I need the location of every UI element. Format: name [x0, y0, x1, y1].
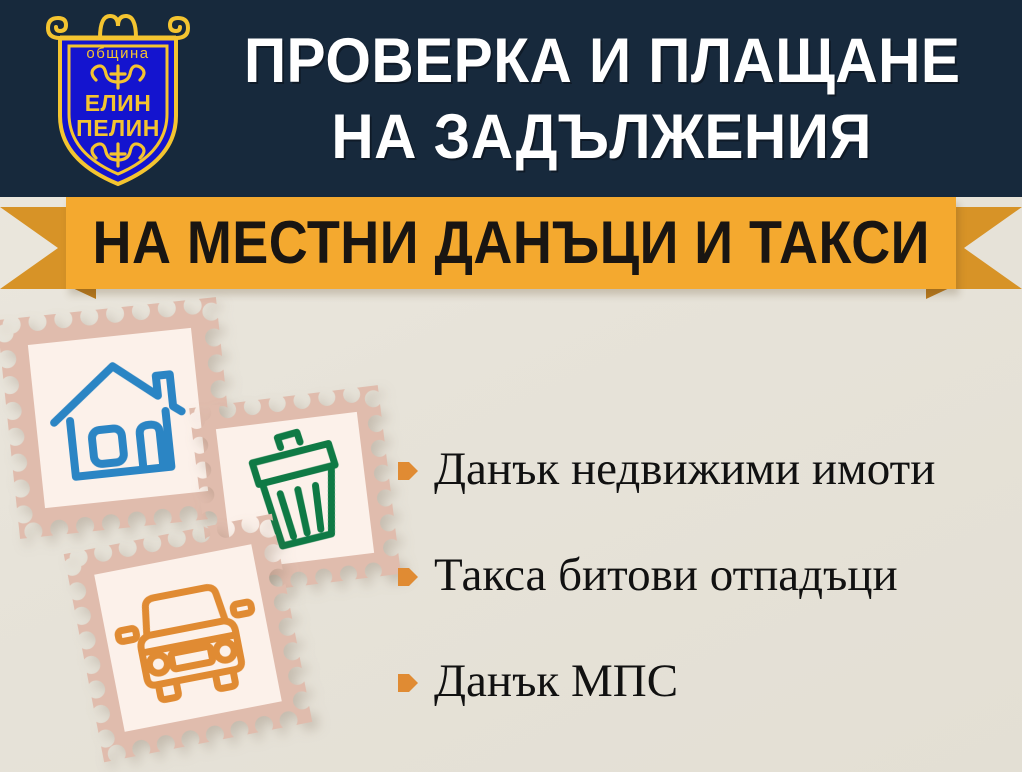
poster-root: община ЕЛИН ПЕЛИН ПРОВЕРКА И ПЛАЩАНЕ НА … — [0, 0, 1022, 772]
stamp-car — [64, 514, 313, 763]
arrow-bullet-icon — [398, 672, 418, 694]
list-item-label: Такса битови отпадъци — [434, 549, 898, 601]
arrow-bullet-icon — [398, 566, 418, 588]
ribbon-band: НА МЕСТНИ ДАНЪЦИ И ТАКСИ — [66, 197, 956, 289]
page-title: ПРОВЕРКА И ПЛАЩАНЕ НА ЗАДЪЛЖЕНИЯ — [196, 14, 1008, 184]
list-item-label: Данък недвижими имоти — [434, 443, 935, 495]
crest-label-top: община — [86, 45, 149, 62]
list-item[interactable]: Данък недвижими имоти — [398, 416, 1016, 522]
arrow-bullet-icon — [398, 460, 418, 482]
ribbon-text: НА МЕСТНИ ДАНЪЦИ И ТАКСИ — [92, 212, 929, 274]
list-item-label: Данък МПС — [434, 655, 678, 707]
list-item[interactable]: Данък МПС — [398, 628, 1016, 734]
subtitle-ribbon: НА МЕСТНИ ДАНЪЦИ И ТАКСИ — [0, 197, 1022, 305]
page-title-line-2: НА ЗАДЪЛЖЕНИЯ — [332, 100, 873, 174]
tax-type-list: Данък недвижими имоти Такса битови отпад… — [398, 416, 1016, 734]
crest-label-line2: ПЕЛИН — [76, 115, 160, 141]
stamp-collage — [0, 300, 420, 772]
crest-label-line1: ЕЛИН — [85, 90, 152, 116]
municipality-crest-logo: община ЕЛИН ПЕЛИН — [38, 8, 198, 190]
list-item[interactable]: Такса битови отпадъци — [398, 522, 1016, 628]
page-title-line-1: ПРОВЕРКА И ПЛАЩАНЕ — [244, 24, 961, 98]
